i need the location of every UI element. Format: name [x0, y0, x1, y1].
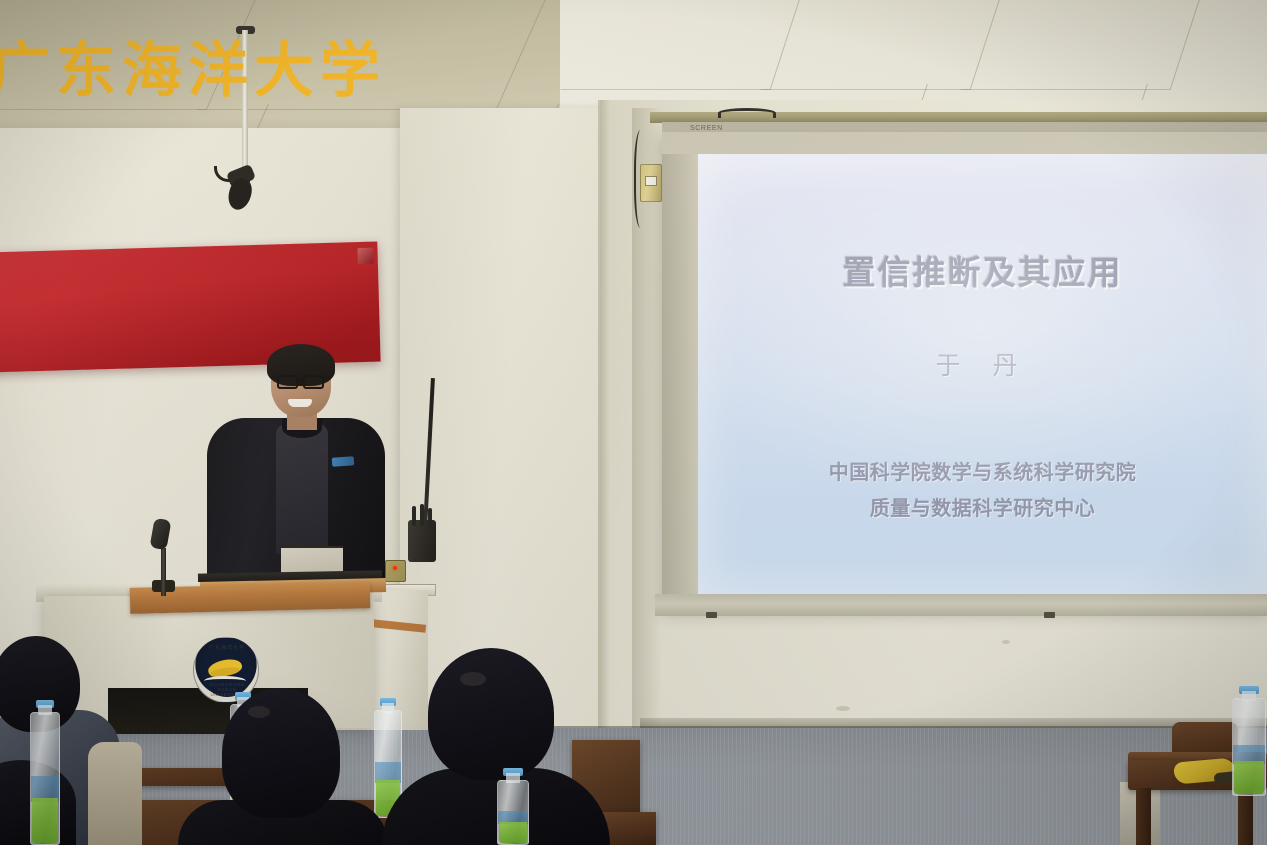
screen-left-frame — [662, 154, 698, 594]
audience-scarf — [88, 742, 142, 845]
control-box-label — [645, 176, 657, 186]
slide-affiliation-line2: 质量与数据科学研究中心 — [698, 490, 1267, 526]
screen-bracket-right — [1044, 612, 1055, 618]
speaker-badge — [332, 456, 355, 467]
banner-fold — [357, 248, 373, 264]
screen-brand-label: SCREEN — [690, 125, 723, 132]
bench-right-leg-left — [1136, 788, 1151, 845]
emblem-top-text: 广东海洋大学 — [204, 644, 250, 660]
slide-title: 置信推断及其应用 — [698, 246, 1267, 294]
glasses-bridge — [298, 380, 303, 382]
glasses-icon — [277, 375, 298, 389]
microphone-stem — [161, 548, 166, 596]
audience-head-2 — [222, 688, 340, 818]
power-outlet[interactable] — [385, 560, 406, 582]
screen-bottom-frame — [655, 594, 1267, 616]
wireless-receiver-rack — [408, 520, 436, 562]
power-led-icon — [393, 566, 397, 570]
speaker-shirt — [276, 424, 328, 554]
screen-cable — [718, 108, 776, 118]
screen-bracket-left — [706, 612, 717, 618]
water-bottle[interactable] — [1232, 686, 1266, 796]
water-bottle[interactable] — [30, 700, 60, 845]
glasses-right-lens — [303, 375, 324, 389]
audience-head-3 — [428, 648, 554, 780]
slide-author: 于 丹 — [698, 346, 1267, 382]
pillar-edge-shadow — [598, 100, 610, 740]
projection-screen: 置信推断及其应用 于 丹 中国科学院数学与系统科学研究院 质量与数据科学研究中心 — [662, 132, 1267, 610]
slide-surface: 置信推断及其应用 于 丹 中国科学院数学与系统科学研究院 质量与数据科学研究中心 — [698, 154, 1267, 594]
lecture-hall-photo: 广东海洋大学 SCREEN 置信推断及其应用 于 丹 中国科学院数学与系统科学研… — [0, 0, 1267, 845]
banner-text: 广东海洋大学 — [0, 22, 383, 109]
slide-affiliation-line1: 中国科学院数学与系统科学研究院 — [698, 454, 1267, 490]
bench-right-leg-right — [1238, 788, 1253, 845]
water-bottle[interactable] — [497, 768, 529, 845]
speaker-mouth — [288, 399, 312, 407]
